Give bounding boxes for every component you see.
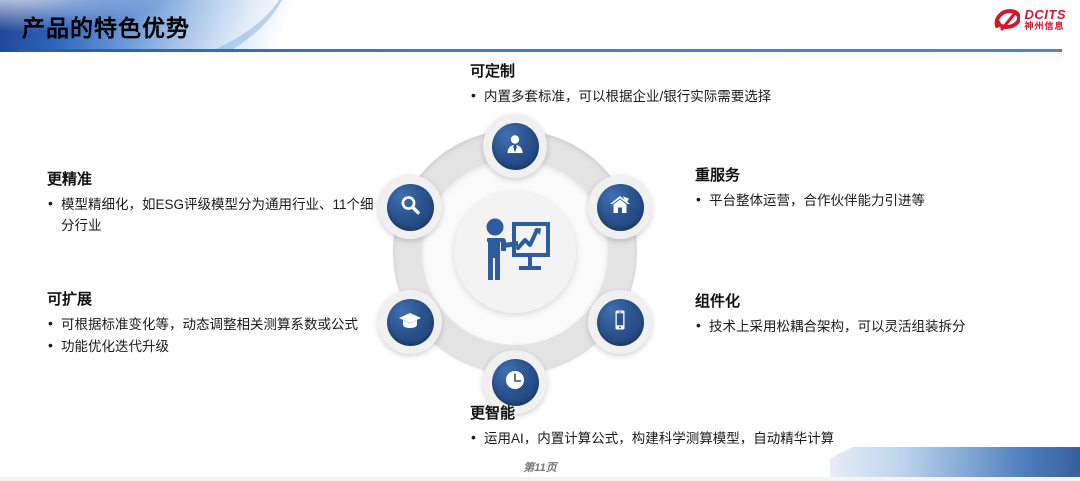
- block-title: 更智能: [470, 402, 950, 423]
- list-item: 平台整体运营，合作伙伴能力引进等: [695, 190, 1035, 211]
- bullet-list: 模型精细化，如ESG评级模型分为通用行业、11个细分行业: [47, 194, 377, 236]
- feature-block-intelligent: 更智能 运用AI，内置计算公式，构建科学测算模型，自动精华计算: [470, 402, 950, 450]
- feature-block-extensible: 可扩展 可根据标准变化等，动态调整相关测算系数或公式 功能优化迭代升级: [47, 288, 377, 358]
- list-item: 运用AI，内置计算公式，构建科学测算模型，自动精华计算: [470, 428, 950, 449]
- smartphone-icon: [608, 308, 632, 337]
- node-smartphone[interactable]: [588, 290, 652, 354]
- business-person-icon: [503, 132, 527, 161]
- clock-icon: [503, 368, 527, 397]
- page-title: 产品的特色优势: [22, 9, 190, 43]
- node-magnifier[interactable]: [378, 175, 442, 239]
- center-disc: [454, 191, 576, 313]
- block-title: 重服务: [695, 164, 1035, 185]
- magnifier-icon: [398, 193, 422, 222]
- block-title: 组件化: [695, 290, 1035, 311]
- node-home[interactable]: [588, 175, 652, 239]
- feature-block-component: 组件化 技术上采用松耦合架构，可以灵活组装拆分: [695, 290, 1035, 338]
- footer-decoration: [830, 447, 1080, 481]
- logo-text-main: DCITS: [1025, 8, 1067, 21]
- list-item: 模型精细化，如ESG评级模型分为通用行业、11个细分行业: [47, 194, 377, 236]
- list-item: 功能优化迭代升级: [47, 336, 377, 357]
- header-divider: [18, 49, 1062, 52]
- block-title: 可扩展: [47, 288, 377, 309]
- feature-ring-graphic: [375, 112, 655, 392]
- list-item: 技术上采用松耦合架构，可以灵活组装拆分: [695, 316, 1035, 337]
- block-title: 更精准: [47, 168, 377, 189]
- dcits-swoosh-icon: [994, 9, 1020, 31]
- feature-block-accurate: 更精准 模型精细化，如ESG评级模型分为通用行业、11个细分行业: [47, 168, 377, 237]
- list-item: 可根据标准变化等，动态调整相关测算系数或公式: [47, 314, 377, 335]
- bullet-list: 技术上采用松耦合架构，可以灵活组装拆分: [695, 316, 1035, 337]
- block-title: 可定制: [470, 60, 940, 81]
- graduation-cap-icon: [398, 308, 422, 337]
- list-item: 内置多套标准，可以根据企业/银行实际需要选择: [470, 86, 940, 107]
- company-logo: DCITS 神州信息: [994, 8, 1067, 31]
- bullet-list: 运用AI，内置计算公式，构建科学测算模型，自动精华计算: [470, 428, 950, 449]
- home-icon: [608, 193, 632, 222]
- logo-text-sub: 神州信息: [1025, 22, 1067, 31]
- feature-block-service: 重服务 平台整体运营，合作伙伴能力引进等: [695, 164, 1035, 212]
- node-disc: [597, 299, 644, 346]
- node-disc: [387, 299, 434, 346]
- node-disc: [492, 359, 539, 406]
- node-business-person[interactable]: [483, 114, 547, 178]
- bullet-list: 平台整体运营，合作伙伴能力引进等: [695, 190, 1035, 211]
- bullet-list: 可根据标准变化等，动态调整相关测算系数或公式 功能优化迭代升级: [47, 314, 377, 357]
- feature-block-customizable: 可定制 内置多套标准，可以根据企业/银行实际需要选择: [470, 60, 940, 108]
- bullet-list: 内置多套标准，可以根据企业/银行实际需要选择: [470, 86, 940, 107]
- node-disc: [387, 184, 434, 231]
- node-disc: [492, 123, 539, 170]
- footer-baseline: [0, 477, 1080, 481]
- node-graduation-cap[interactable]: [378, 290, 442, 354]
- presenter-chart-icon: [478, 216, 552, 289]
- node-disc: [597, 184, 644, 231]
